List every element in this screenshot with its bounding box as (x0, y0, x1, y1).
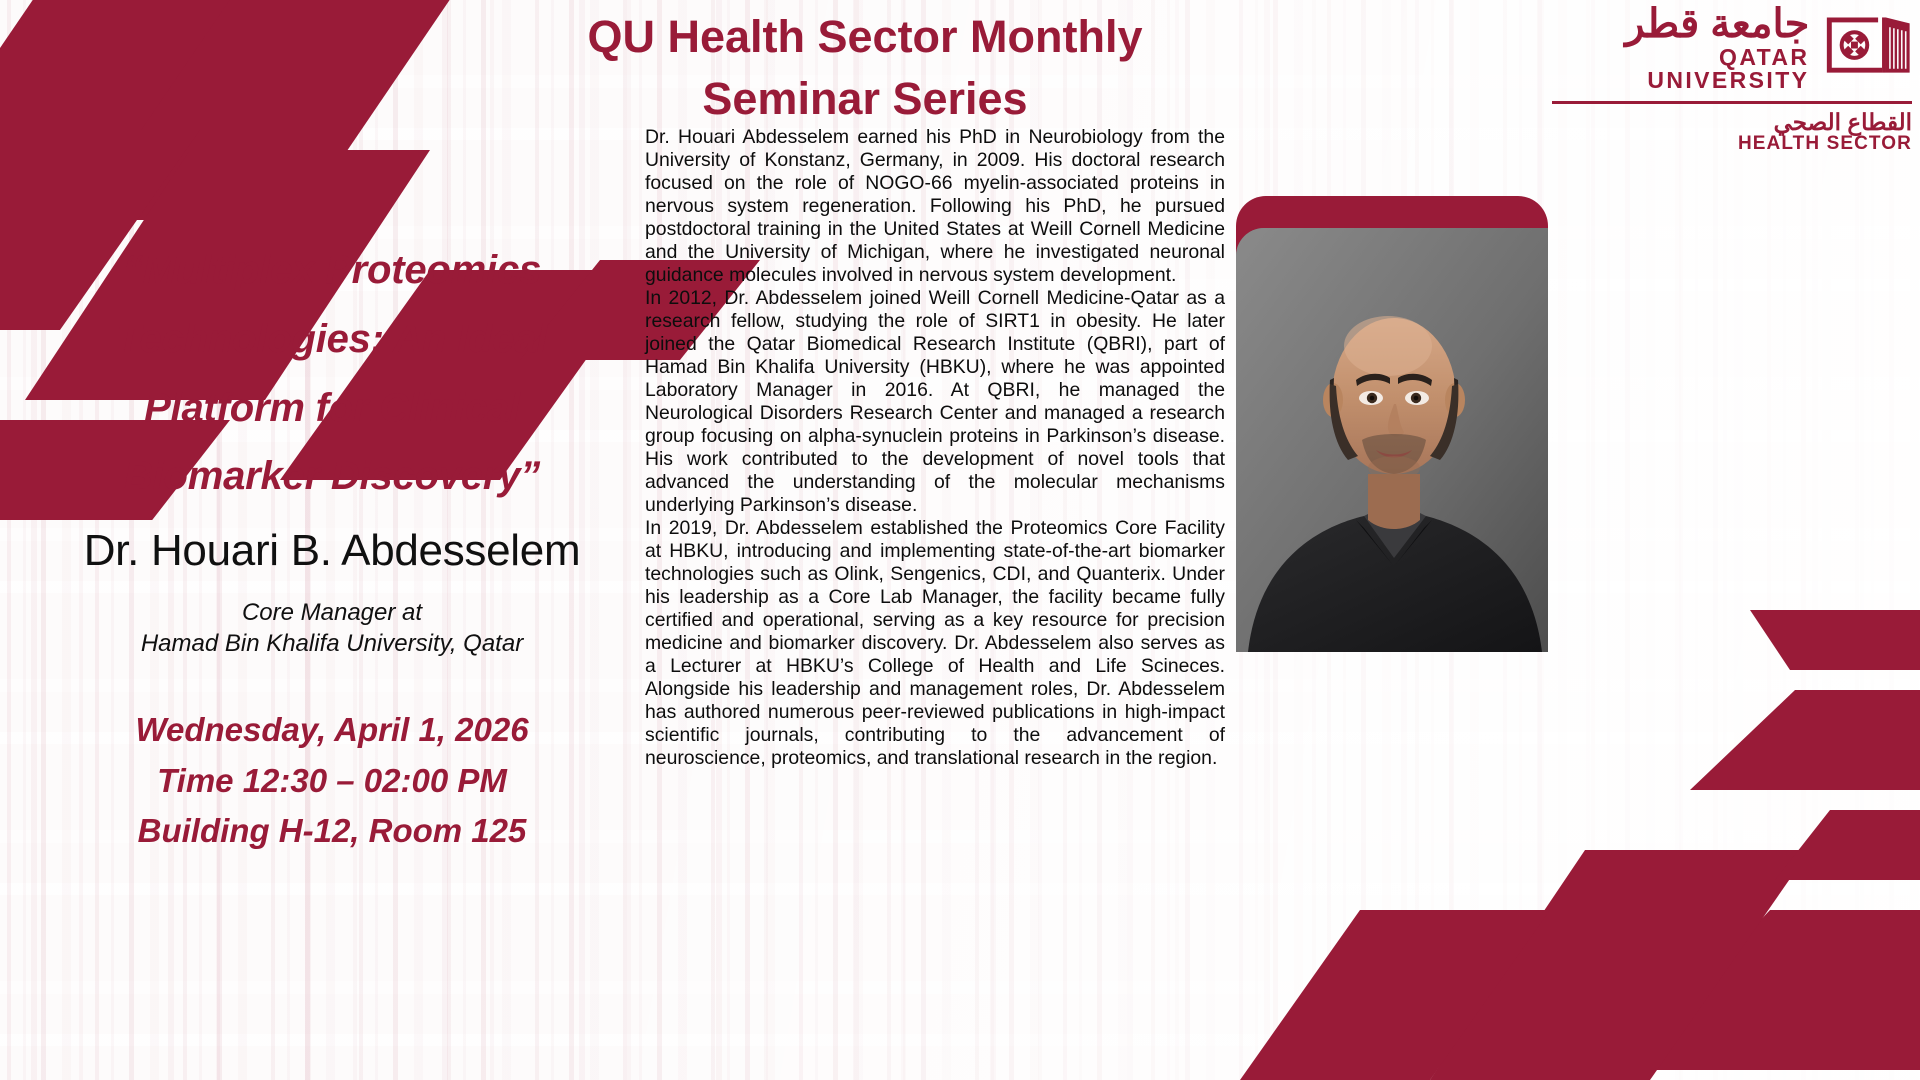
qu-emblem-icon (1817, 15, 1912, 81)
event-location: Building H-12, Room 125 (42, 806, 622, 856)
bio-paragraph-1: Dr. Houari Abdesselem earned his PhD in … (645, 126, 1225, 287)
speaker-name: Dr. Houari B. Abdesselem (42, 525, 622, 578)
bio-paragraph-3: In 2019, Dr. Abdesselem established the … (645, 517, 1225, 770)
logo-top-row: جامعة قطر QATAR UNIVERSITY (1552, 4, 1912, 92)
speaker-affiliation: Core Manager at Hamad Bin Khalifa Univer… (42, 598, 622, 659)
logo-english-name: QATAR UNIVERSITY (1552, 46, 1809, 92)
speaker-photo (1236, 228, 1548, 652)
event-time: Time 12:30 – 02:00 PM (42, 756, 622, 806)
seminar-title-line1: “Multiplex Proteomics (42, 236, 622, 305)
bio-paragraph-2: In 2012, Dr. Abdesselem joined Weill Cor… (645, 287, 1225, 517)
event-details: Wednesday, April 1, 2026 Time 12:30 – 02… (42, 705, 622, 855)
event-date: Wednesday, April 1, 2026 (42, 705, 622, 755)
health-sector-arabic: القطاع الصحي (1552, 110, 1912, 134)
logo-wordmark: جامعة قطر QATAR UNIVERSITY (1552, 4, 1809, 92)
logo-arabic-name: جامعة قطر (1552, 4, 1809, 44)
page-title-line2: Seminar Series (470, 68, 1260, 130)
affiliation-line2: Hamad Bin Khalifa University, Qatar (42, 629, 622, 660)
seminar-title-line2: Technologies: An Ideal (42, 305, 622, 374)
seminar-poster: جامعة قطر QATAR UNIVERSITY (0, 0, 1920, 1080)
portrait-image (1236, 228, 1548, 652)
seminar-title-line4: Biomarker Discovery” (42, 442, 622, 511)
seminar-title-line3: Platform for Clinical (42, 374, 622, 443)
qatar-university-logo: جامعة قطر QATAR UNIVERSITY (1552, 4, 1912, 154)
page-title-line1: QU Health Sector Monthly (470, 6, 1260, 68)
health-sector-english: HEALTH SECTOR (1552, 134, 1912, 154)
seminar-title: “Multiplex Proteomics Technologies: An I… (42, 236, 622, 511)
decoration-bottom-right (1130, 610, 1920, 1080)
affiliation-line1: Core Manager at (42, 598, 622, 629)
speaker-biography: Dr. Houari Abdesselem earned his PhD in … (645, 126, 1225, 770)
page-title: QU Health Sector Monthly Seminar Series (470, 6, 1260, 130)
logo-divider (1552, 101, 1912, 104)
seminar-info-column: “Multiplex Proteomics Technologies: An I… (42, 236, 622, 856)
